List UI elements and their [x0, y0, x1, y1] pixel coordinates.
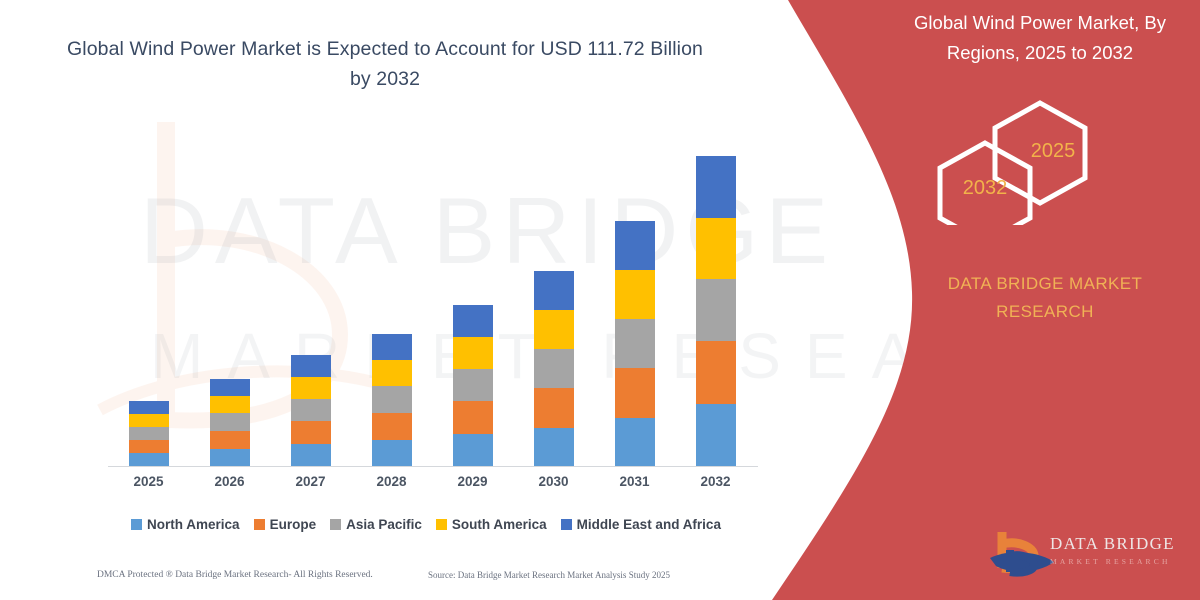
stacked-bar — [291, 355, 331, 466]
stacked-bar — [696, 156, 736, 466]
chart-legend: North AmericaEuropeAsia PacificSouth Ame… — [108, 512, 758, 536]
legend-label: Asia Pacific — [346, 517, 422, 532]
legend-item[interactable]: North America — [131, 517, 240, 532]
bar-segment — [210, 431, 250, 449]
bar-segment — [696, 279, 736, 341]
x-axis-tick-label: 2025 — [108, 474, 189, 489]
bar-segment — [210, 449, 250, 466]
bar-group-2030 — [513, 140, 594, 466]
bar-segment — [210, 379, 250, 396]
bar-segment — [210, 413, 250, 431]
bar-group-2029 — [432, 140, 513, 466]
bar-segment — [372, 334, 412, 360]
hexagon-2032-label: 2032 — [945, 177, 1025, 200]
x-axis-labels: 20252026202720282029203020312032 — [108, 474, 756, 498]
logo-title: DATA BRIDGE — [1050, 534, 1195, 554]
stacked-bar — [534, 271, 574, 466]
bar-segment — [291, 399, 331, 421]
stacked-bar — [372, 334, 412, 466]
bar-segment — [615, 270, 655, 319]
footer-source: Source: Data Bridge Market Research Mark… — [428, 570, 670, 580]
bar-segment — [372, 360, 412, 386]
stacked-bar — [129, 401, 169, 466]
bar-segment — [291, 421, 331, 444]
x-axis-tick-label: 2031 — [594, 474, 675, 489]
bar-segment — [453, 305, 493, 337]
bar-group-2026 — [189, 140, 270, 466]
footer-copyright: DMCA Protected ® Data Bridge Market Rese… — [97, 570, 373, 580]
bar-segment — [696, 156, 736, 218]
bar-segment — [291, 355, 331, 377]
bar-series-container — [108, 140, 756, 466]
legend-label: North America — [147, 517, 240, 532]
stacked-bar — [210, 379, 250, 466]
legend-swatch-icon — [254, 519, 265, 530]
bar-segment — [696, 218, 736, 279]
bar-segment — [129, 440, 169, 453]
bar-segment — [291, 444, 331, 466]
chart-pane: DATA BRIDGE MARKET RESEARCH Global Wind … — [0, 0, 800, 600]
bar-segment — [696, 341, 736, 404]
bar-segment — [534, 428, 574, 466]
bar-group-2031 — [594, 140, 675, 466]
x-axis-tick-label: 2026 — [189, 474, 270, 489]
legend-label: Europe — [270, 517, 317, 532]
x-axis-tick-label: 2028 — [351, 474, 432, 489]
chart-title: Global Wind Power Market is Expected to … — [60, 34, 710, 94]
legend-swatch-icon — [436, 519, 447, 530]
legend-label: Middle East and Africa — [577, 517, 721, 532]
logo-text-block: DATA BRIDGE MARKET RESEARCH — [1050, 534, 1195, 566]
bar-group-2028 — [351, 140, 432, 466]
bar-segment — [615, 418, 655, 466]
bar-segment — [615, 221, 655, 270]
bar-segment — [534, 271, 574, 310]
plot-area — [108, 140, 756, 466]
stacked-bar — [615, 221, 655, 466]
right-panel-brand: DATA BRIDGE MARKET RESEARCH — [900, 270, 1190, 326]
legend-item[interactable]: South America — [436, 517, 547, 532]
bar-segment — [453, 337, 493, 369]
bar-segment — [129, 427, 169, 440]
bar-segment — [291, 377, 331, 399]
legend-item[interactable]: Asia Pacific — [330, 517, 422, 532]
right-panel-title: Global Wind Power Market, By Regions, 20… — [890, 8, 1190, 68]
bar-segment — [372, 440, 412, 466]
bar-segment — [696, 404, 736, 466]
x-axis-tick-label: 2027 — [270, 474, 351, 489]
logo-subtitle: MARKET RESEARCH — [1050, 557, 1195, 566]
bar-group-2027 — [270, 140, 351, 466]
bar-segment — [615, 368, 655, 418]
x-axis-tick-label: 2030 — [513, 474, 594, 489]
x-axis-tick-label: 2029 — [432, 474, 513, 489]
bar-segment — [129, 453, 169, 466]
bar-group-2032 — [675, 140, 756, 466]
bar-group-2025 — [108, 140, 189, 466]
bar-segment — [210, 396, 250, 413]
legend-item[interactable]: Middle East and Africa — [561, 517, 721, 532]
bar-segment — [372, 386, 412, 413]
bar-segment — [534, 388, 574, 428]
legend-swatch-icon — [131, 519, 142, 530]
stacked-bar — [453, 305, 493, 466]
bar-segment — [453, 369, 493, 401]
legend-swatch-icon — [561, 519, 572, 530]
bar-segment — [534, 310, 574, 349]
bar-segment — [615, 319, 655, 368]
hexagon-2025-label: 2025 — [1013, 140, 1093, 163]
bar-segment — [453, 401, 493, 434]
bar-segment — [453, 434, 493, 466]
legend-label: South America — [452, 517, 547, 532]
bar-segment — [372, 413, 412, 440]
infographic-root: DATA BRIDGE MARKET RESEARCH Global Wind … — [0, 0, 1200, 600]
legend-item[interactable]: Europe — [254, 517, 317, 532]
bar-segment — [129, 414, 169, 427]
legend-swatch-icon — [330, 519, 341, 530]
bar-segment — [129, 401, 169, 414]
x-axis-tick-label: 2032 — [675, 474, 756, 489]
bar-segment — [534, 349, 574, 388]
x-axis-line — [108, 466, 758, 467]
